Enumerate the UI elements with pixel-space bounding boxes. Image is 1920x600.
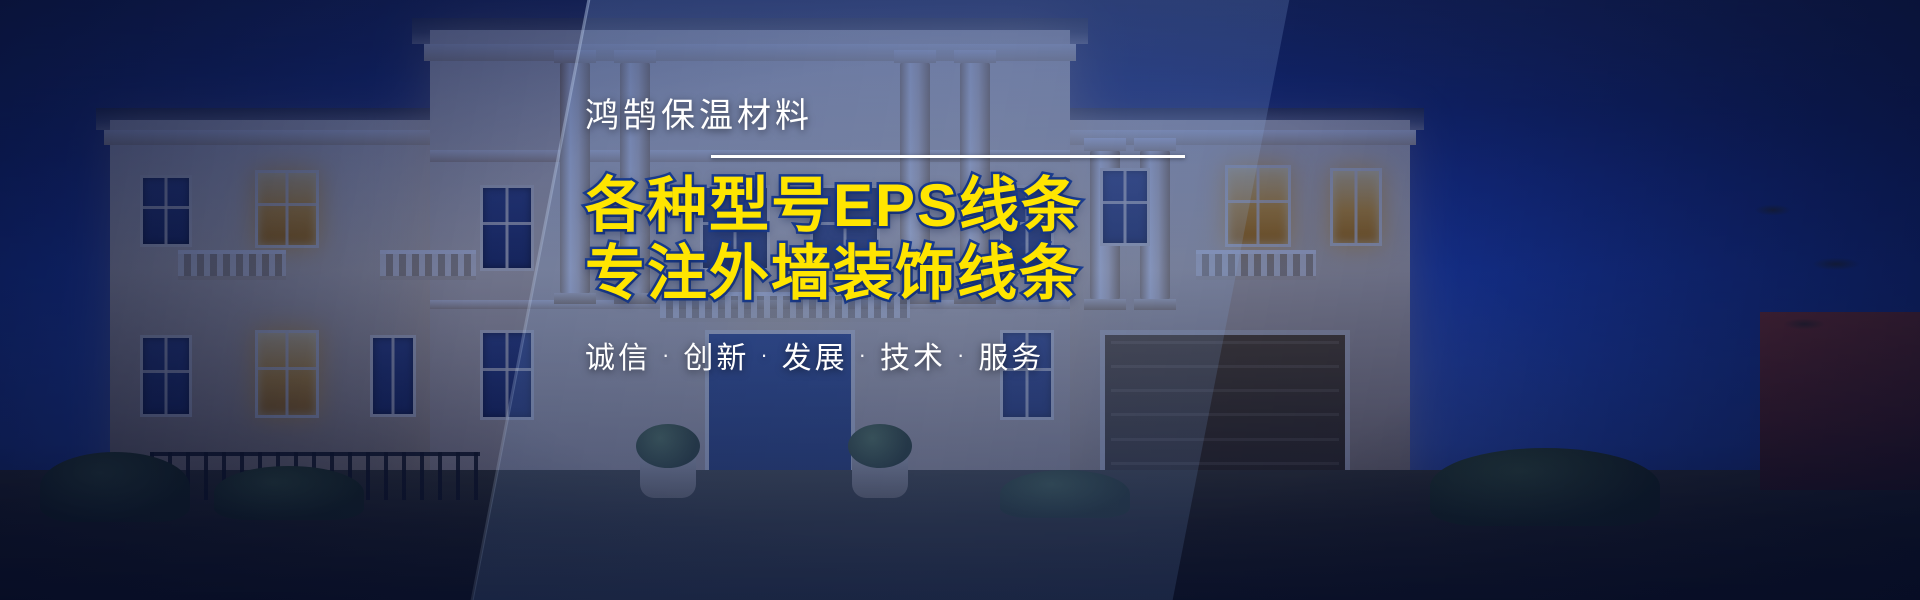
promo-banner: 鸿鹄保温材料 各种型号EPS线条 专注外墙装饰线条 诚信 · 创新 · 发展 ·… (0, 0, 1920, 600)
tagline-item-5: 服务 (978, 333, 1044, 377)
tagline-separator: · (957, 342, 967, 368)
tagline-item-1: 诚信 (585, 333, 651, 377)
headline-line-2: 专注外墙装饰线条 (585, 240, 1285, 308)
banner-headline: 各种型号EPS线条 专注外墙装饰线条 (585, 172, 1285, 308)
banner-tagline: 诚信 · 创新 · 发展 · 技术 · 服务 (585, 333, 1285, 377)
banner-subtitle: 鸿鹄保温材料 (585, 96, 1285, 137)
tagline-separator: · (662, 342, 672, 368)
tagline-separator: · (859, 342, 869, 368)
title-divider (711, 155, 1185, 158)
tagline-item-2: 创新 (683, 333, 749, 377)
tagline-item-3: 发展 (782, 333, 848, 377)
banner-copy-block: 鸿鹄保温材料 各种型号EPS线条 专注外墙装饰线条 诚信 · 创新 · 发展 ·… (585, 96, 1285, 377)
headline-line-1: 各种型号EPS线条 (585, 172, 1285, 240)
tagline-item-4: 技术 (880, 333, 946, 377)
tagline-separator: · (760, 342, 770, 368)
